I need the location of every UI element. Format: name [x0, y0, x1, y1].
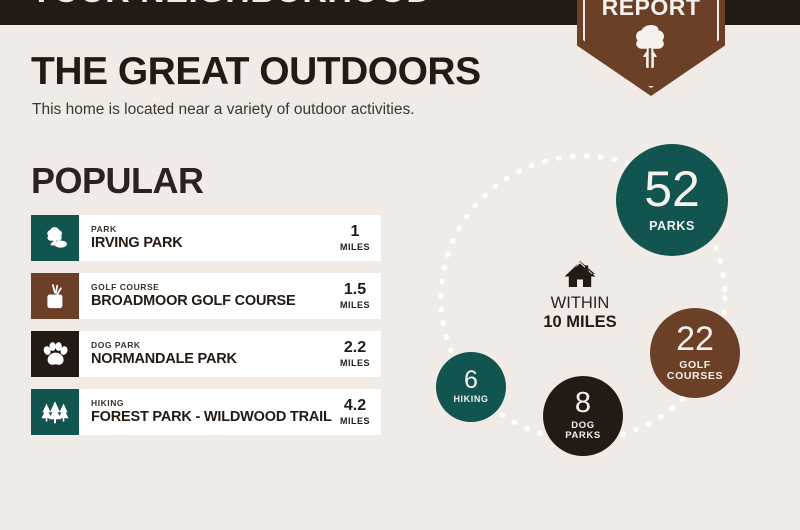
list-item-name: FOREST PARK - WILDWOOD TRAIL: [91, 410, 332, 426]
list-item[interactable]: GOLF COURSE BROADMOOR GOLF COURSE 1.5 MI…: [31, 273, 381, 319]
stat-value: 8: [575, 390, 591, 418]
stat-bubble-parks[interactable]: 52 PARKS: [616, 144, 728, 256]
stat-label: DOG PARKS: [565, 421, 601, 442]
center-line2: 10 MILES: [515, 313, 645, 332]
distance-value: 1.5: [344, 282, 366, 298]
pine-trees-icon: [40, 400, 70, 424]
list-item-body: DOG PARK NORMANDALE PARK: [79, 331, 334, 377]
house-icon: [564, 260, 596, 288]
distance-unit: MILES: [340, 358, 370, 368]
list-item[interactable]: HIKING FOREST PARK - WILDWOOD TRAIL 4.2 …: [31, 389, 381, 435]
list-item-body: PARK IRVING PARK: [79, 215, 334, 261]
stat-label-line1: DOG: [571, 420, 594, 431]
outdoor-report-badge: OUTDOOR REPORT: [577, 0, 725, 96]
stat-label-line2: COURSES: [667, 370, 723, 382]
stat-value: 22: [676, 323, 714, 355]
stat-label: HIKING: [453, 395, 488, 405]
page-subtitle: This home is located near a variety of o…: [32, 101, 415, 119]
distance-value: 1: [351, 224, 360, 240]
distance-unit: MILES: [340, 300, 370, 310]
popular-list: PARK IRVING PARK 1 MILES GOLF COURSE BRO…: [31, 215, 381, 447]
stat-bubble-golf-courses[interactable]: 22 GOLF COURSES: [650, 308, 740, 398]
stat-label-line1: GOLF: [679, 359, 711, 371]
list-item[interactable]: DOG PARK NORMANDALE PARK 2.2 MILES: [31, 331, 381, 377]
list-item-icon-box: [31, 215, 79, 261]
list-item-category: GOLF COURSE: [91, 282, 295, 292]
paw-print-icon: [42, 342, 69, 367]
list-item-distance: 4.2 MILES: [334, 389, 381, 435]
page-title: THE GREAT OUTDOORS: [31, 50, 481, 94]
badge-title-line2: REPORT: [577, 0, 725, 21]
park-tree-icon: [42, 226, 68, 250]
list-item-icon-box: [31, 273, 79, 319]
golf-bag-icon: [44, 283, 66, 309]
distance-unit: MILES: [340, 416, 370, 426]
stat-bubble-dog-parks[interactable]: 8 DOG PARKS: [543, 376, 623, 456]
stat-bubble-hiking[interactable]: 6 HIKING: [436, 352, 506, 422]
within-10-miles-infographic: 52 PARKS 22 GOLF COURSES 8 DOG PARKS 6 H…: [400, 130, 800, 530]
list-item-name: IRVING PARK: [91, 236, 183, 252]
infographic-center: WITHIN 10 MILES: [515, 260, 645, 332]
list-item-name: NORMANDALE PARK: [91, 352, 237, 368]
list-item-body: GOLF COURSE BROADMOOR GOLF COURSE: [79, 273, 334, 319]
distance-unit: MILES: [340, 242, 370, 252]
list-item-distance: 1.5 MILES: [334, 273, 381, 319]
center-line1: WITHIN: [515, 294, 645, 313]
list-item-category: PARK: [91, 224, 183, 234]
stat-value: 52: [644, 166, 700, 214]
stat-label-line2: PARKS: [565, 430, 601, 441]
distance-value: 2.2: [344, 340, 366, 356]
list-item-category: HIKING: [91, 398, 332, 408]
distance-value: 4.2: [344, 398, 366, 414]
list-item-body: HIKING FOREST PARK - WILDWOOD TRAIL: [79, 389, 334, 435]
list-item-icon-box: [31, 331, 79, 377]
list-item[interactable]: PARK IRVING PARK 1 MILES: [31, 215, 381, 261]
stat-label: GOLF COURSES: [667, 360, 723, 383]
stat-value: 6: [464, 369, 478, 393]
list-item-icon-box: [31, 389, 79, 435]
list-item-name: BROADMOOR GOLF COURSE: [91, 294, 295, 310]
list-item-category: DOG PARK: [91, 340, 237, 350]
tree-icon: [634, 24, 668, 68]
list-item-distance: 2.2 MILES: [334, 331, 381, 377]
popular-section-title: POPULAR: [31, 160, 204, 202]
stat-label: PARKS: [649, 220, 695, 234]
topbar-cut-heading: YOUR NEIGHBORHOOD: [30, 0, 431, 8]
list-item-distance: 1 MILES: [334, 215, 381, 261]
